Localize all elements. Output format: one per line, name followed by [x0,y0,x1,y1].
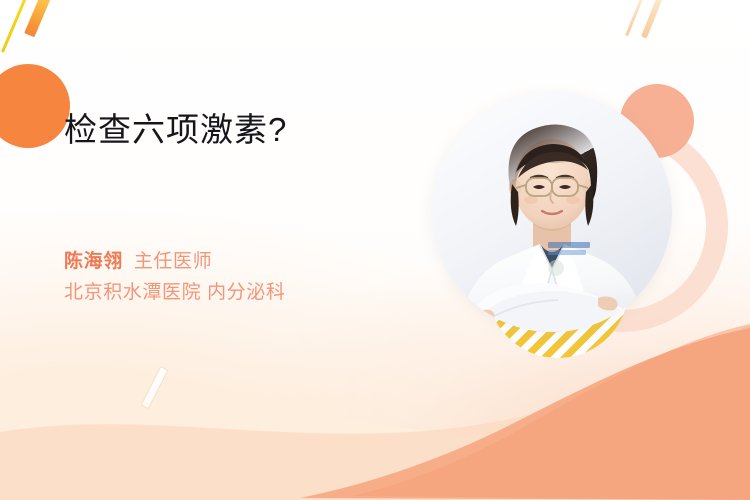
wave-light [0,280,750,500]
slide-canvas: 检查六项激素? 陈海翎主任医师 北京积水潭医院 内分泌科 [0,0,750,500]
speaker-name: 陈海翎 [64,251,123,272]
wave-mid [0,300,750,500]
faint-diagonal-stripe-icon [625,0,649,36]
orange-diagonal-stripe-icon [24,0,58,37]
faint-diagonal-stripe-icon [641,0,670,39]
yellow-diagonal-stripe-icon [1,0,32,53]
speaker-affiliation-line: 北京积水潭医院 内分泌科 [64,277,404,308]
speaker-identity-line: 陈海翎主任医师 [64,246,404,277]
speaker-credit-block: 陈海翎主任医师 北京积水潭医院 内分泌科 [64,246,404,308]
title-block: 检查六项激素? [64,110,404,150]
page-title: 检查六项激素? [64,110,404,150]
orange-circle-icon [0,64,70,148]
wave-deep [0,320,750,500]
avatar [432,92,672,332]
portrait-illustration [432,92,672,332]
speaker-job-title: 主任医师 [134,251,212,272]
outlined-diagonal-slash-icon [141,366,169,409]
speaker-affiliation: 北京积水潭医院 内分泌科 [64,282,285,303]
